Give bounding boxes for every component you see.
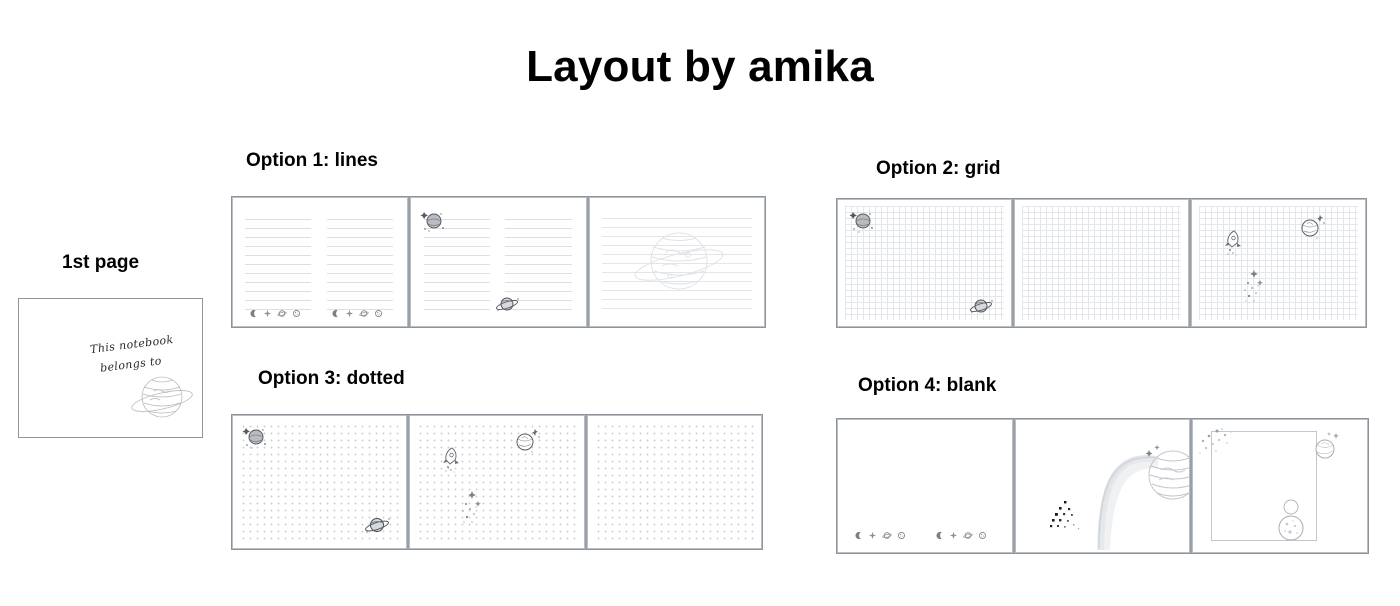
lines-page-3[interactable]: [589, 197, 765, 327]
comet-trail: [1016, 420, 1190, 552]
planet-icon-row-left: [854, 531, 906, 540]
sparkle-star-icon: [868, 531, 877, 540]
dotted-moon-icon: [978, 531, 987, 540]
grid-fill: [845, 206, 1004, 319]
planet-icon-row-right: [331, 309, 383, 318]
option-3-spread[interactable]: [231, 414, 763, 550]
option-3-label: Option 3: dotted: [258, 368, 405, 390]
crescent-moon-icon: [249, 309, 258, 318]
thin-rectangle-frame: [1211, 431, 1317, 541]
grid-page-2[interactable]: [1014, 199, 1189, 327]
dot-fill: [595, 423, 754, 542]
crescent-moon-icon: [935, 531, 944, 540]
blank-page-1[interactable]: [837, 419, 1013, 553]
rules-right-column: [505, 211, 571, 316]
first-page-label: 1st page: [62, 252, 139, 274]
dotted-moon-icon: [897, 531, 906, 540]
dot-fill: [417, 423, 576, 542]
dark-star-cluster-lower-left: [1047, 498, 1085, 534]
handwriting-line-2: belongs to: [99, 353, 163, 377]
option-4-spread[interactable]: [836, 418, 1369, 554]
stardust-top-left: [1197, 425, 1245, 459]
sparkle-star-icon: [263, 309, 272, 318]
option-2-spread[interactable]: [836, 198, 1367, 328]
page-title: Layout by amika: [0, 42, 1400, 92]
dotted-page-3[interactable]: [587, 415, 762, 549]
planet-icon-row-left: [249, 309, 301, 318]
option-2-label: Option 2: grid: [876, 158, 1001, 180]
rules-right-column: [327, 211, 393, 316]
handwriting-line-1: This notebook: [89, 332, 174, 359]
grid-page-1[interactable]: [837, 199, 1012, 327]
planet-icon-row-right: [935, 531, 987, 540]
rules-left-column: [245, 211, 311, 316]
dot-fill: [240, 423, 399, 542]
first-page-sheet[interactable]: This notebook belongs to: [18, 298, 203, 438]
saturn-planet-illustration: [126, 367, 196, 429]
option-1-spread[interactable]: [231, 196, 766, 328]
lines-page-2[interactable]: [410, 197, 586, 327]
planet-top-right: [1309, 431, 1343, 463]
grid-fill: [1199, 206, 1358, 319]
ringed-planet-icon: [963, 531, 973, 540]
crescent-moon-icon: [331, 309, 340, 318]
sparkle-star-icon: [949, 531, 958, 540]
dotted-page-1[interactable]: [232, 415, 407, 549]
grid-fill: [1022, 206, 1181, 319]
ringed-planet-icon: [277, 309, 287, 318]
sparkle-star-icon: [345, 309, 354, 318]
hanging-moons: [1277, 497, 1311, 549]
rules-full-width: [602, 210, 752, 318]
ringed-planet-icon: [882, 531, 892, 540]
large-planet-right: [1143, 442, 1190, 508]
blank-page-2[interactable]: [1015, 419, 1191, 553]
dotted-moon-icon: [374, 309, 383, 318]
rules-left-column: [424, 211, 490, 316]
lines-page-1[interactable]: [232, 197, 408, 327]
crescent-moon-icon: [854, 531, 863, 540]
blank-page-3[interactable]: [1192, 419, 1368, 553]
dotted-page-2[interactable]: [409, 415, 584, 549]
ringed-planet-icon: [359, 309, 369, 318]
option-4-label: Option 4: blank: [858, 375, 996, 397]
dotted-moon-icon: [292, 309, 301, 318]
option-1-label: Option 1: lines: [246, 150, 378, 172]
grid-page-3[interactable]: [1191, 199, 1366, 327]
